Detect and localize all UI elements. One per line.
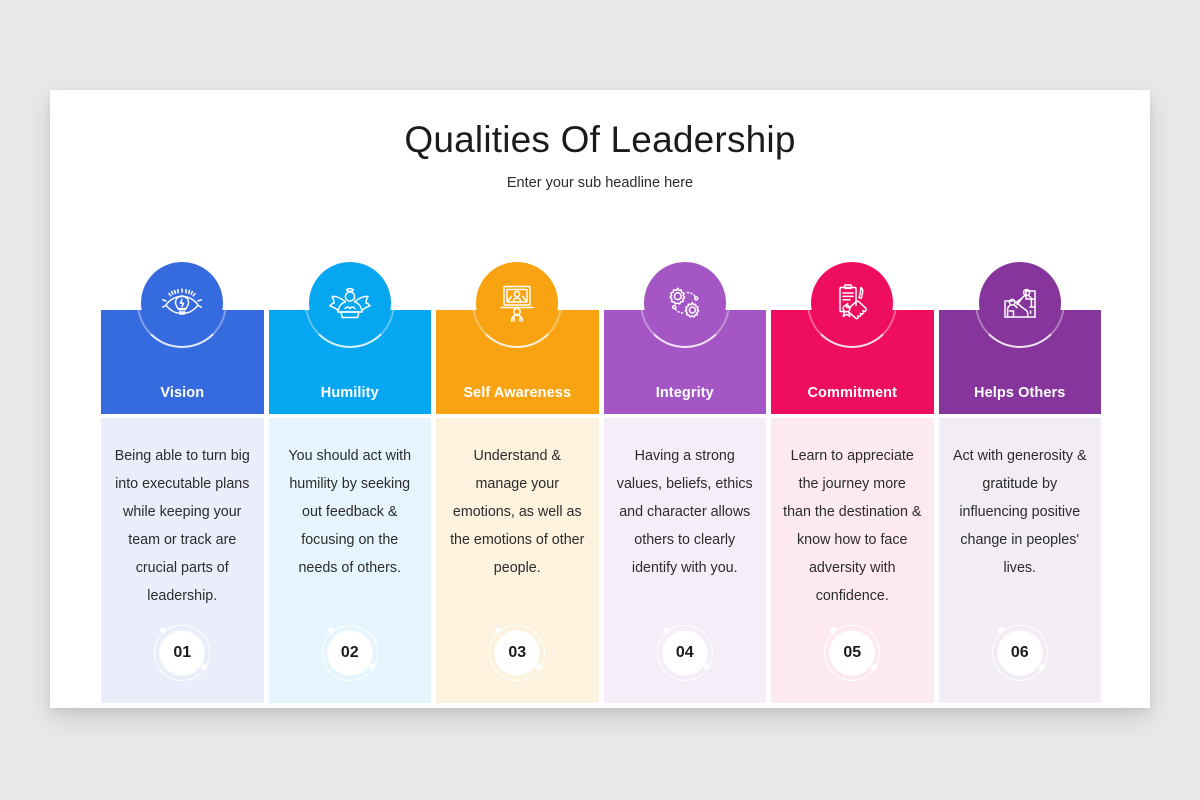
gears-icon bbox=[644, 262, 726, 344]
card-number-wrap-self-awareness: 03 bbox=[489, 625, 545, 681]
icon-wrap-helps-others bbox=[939, 262, 1102, 310]
slide-canvas: Qualities Of Leadership Enter your sub h… bbox=[50, 90, 1150, 708]
quality-card-commitment[interactable]: CommitmentLearn to appreciate the journe… bbox=[771, 262, 934, 703]
card-number-wrap-commitment: 05 bbox=[824, 625, 880, 681]
card-number-wrap-humility: 02 bbox=[322, 625, 378, 681]
number-dot-bottom-commitment bbox=[871, 664, 877, 670]
quality-card-helps-others[interactable]: Helps OthersAct with generosity & gratit… bbox=[939, 262, 1102, 703]
card-title-self-awareness: Self Awareness bbox=[463, 385, 571, 401]
number-dot-bottom-integrity bbox=[704, 664, 710, 670]
card-body-vision: Being able to turn big into executable p… bbox=[101, 418, 264, 703]
number-dot-bottom-humility bbox=[369, 664, 375, 670]
card-body-integrity: Having a strong values, beliefs, ethics … bbox=[604, 418, 767, 703]
icon-wrap-integrity bbox=[604, 262, 767, 310]
contract-handshake-icon bbox=[811, 262, 893, 344]
number-ring-self-awareness bbox=[489, 625, 545, 681]
card-title-integrity: Integrity bbox=[656, 385, 714, 401]
card-title-vision: Vision bbox=[160, 385, 204, 401]
number-ring-integrity bbox=[657, 625, 713, 681]
card-description-helps-others: Act with generosity & gratitude by influ… bbox=[951, 442, 1090, 582]
card-description-self-awareness: Understand & manage your emotions, as we… bbox=[448, 442, 587, 582]
card-description-humility: You should act with humility by seeking … bbox=[281, 442, 420, 582]
icon-wrap-vision bbox=[101, 262, 264, 310]
card-title-humility: Humility bbox=[321, 385, 379, 401]
number-dot-bottom-vision bbox=[201, 664, 207, 670]
card-number-wrap-helps-others: 06 bbox=[992, 625, 1048, 681]
card-description-commitment: Learn to appreciate the journey more tha… bbox=[783, 442, 922, 610]
card-title-commitment: Commitment bbox=[807, 385, 897, 401]
card-body-commitment: Learn to appreciate the journey more tha… bbox=[771, 418, 934, 703]
card-body-self-awareness: Understand & manage your emotions, as we… bbox=[436, 418, 599, 703]
qualities-card-row: VisionBeing able to turn big into execut… bbox=[101, 262, 1101, 703]
quality-card-self-awareness[interactable]: Self AwarenessUnderstand & manage your e… bbox=[436, 262, 599, 703]
number-ring-vision bbox=[154, 625, 210, 681]
number-dot-bottom-self-awareness bbox=[536, 664, 542, 670]
icon-wrap-humility bbox=[269, 262, 432, 310]
card-description-integrity: Having a strong values, beliefs, ethics … bbox=[616, 442, 755, 582]
angel-icon bbox=[309, 262, 391, 344]
number-ring-commitment bbox=[824, 625, 880, 681]
number-ring-helps-others bbox=[992, 625, 1048, 681]
icon-wrap-self-awareness bbox=[436, 262, 599, 310]
number-dot-bottom-helps-others bbox=[1039, 664, 1045, 670]
person-mirror-icon bbox=[476, 262, 558, 344]
card-title-helps-others: Helps Others bbox=[974, 385, 1065, 401]
card-description-vision: Being able to turn big into executable p… bbox=[113, 442, 252, 610]
page-title: Qualities Of Leadership bbox=[50, 119, 1150, 162]
quality-card-vision[interactable]: VisionBeing able to turn big into execut… bbox=[101, 262, 264, 703]
card-number-wrap-vision: 01 bbox=[154, 625, 210, 681]
page-subtitle: Enter your sub headline here bbox=[50, 175, 1150, 191]
quality-card-integrity[interactable]: IntegrityHaving a strong values, beliefs… bbox=[604, 262, 767, 703]
number-ring-humility bbox=[322, 625, 378, 681]
number-dot-top-integrity bbox=[663, 627, 669, 633]
number-dot-top-humility bbox=[328, 627, 334, 633]
number-dot-top-helps-others bbox=[998, 627, 1004, 633]
card-body-humility: You should act with humility by seeking … bbox=[269, 418, 432, 703]
card-number-wrap-integrity: 04 bbox=[657, 625, 713, 681]
helping-hand-icon bbox=[979, 262, 1061, 344]
card-body-helps-others: Act with generosity & gratitude by influ… bbox=[939, 418, 1102, 703]
icon-wrap-commitment bbox=[771, 262, 934, 310]
eye-lightbulb-icon bbox=[141, 262, 223, 344]
quality-card-humility[interactable]: HumilityYou should act with humility by … bbox=[269, 262, 432, 703]
